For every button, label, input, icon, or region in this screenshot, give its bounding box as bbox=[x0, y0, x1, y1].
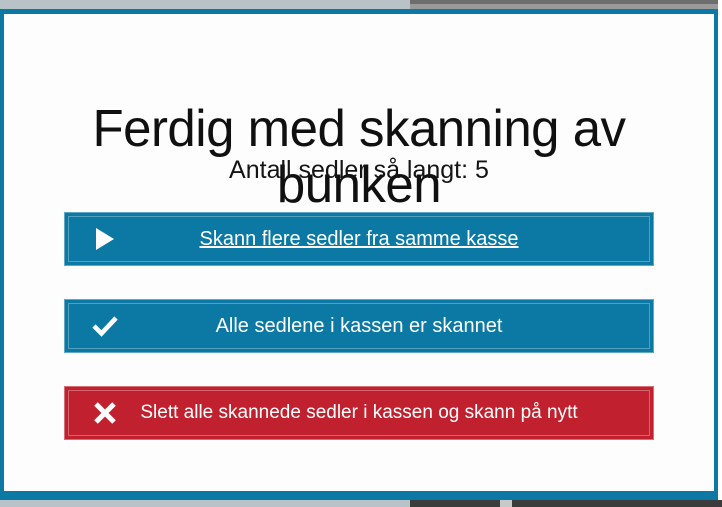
scan-more-button-label: Skann flere sedler fra samme kasse bbox=[65, 213, 653, 265]
scan-complete-dialog: Ferdig med skanning av bunken Antall sed… bbox=[0, 9, 718, 495]
taskbar-segment[interactable] bbox=[500, 500, 512, 507]
all-scanned-button-label: Alle sedlene i kassen er skannet bbox=[65, 300, 653, 352]
delete-rescan-button[interactable]: Slett alle skannede sedler i kassen og s… bbox=[64, 386, 654, 440]
checkmark-icon bbox=[87, 300, 123, 352]
taskbar-segment[interactable] bbox=[520, 500, 722, 507]
cross-x-icon bbox=[87, 387, 123, 439]
delete-rescan-button-label: Slett alle skannede sedler i kassen og s… bbox=[65, 387, 653, 439]
taskbar-segment[interactable] bbox=[512, 500, 520, 507]
dialog-content: Ferdig med skanning av bunken Antall sed… bbox=[4, 14, 714, 491]
scan-more-button[interactable]: Skann flere sedler fra samme kasse bbox=[64, 212, 654, 266]
screen-root: Ferdig med skanning av bunken Antall sed… bbox=[0, 0, 722, 507]
button-inner-border bbox=[68, 216, 650, 262]
button-inner-border bbox=[68, 390, 650, 436]
taskbar-segment[interactable] bbox=[410, 500, 500, 507]
right-gutter bbox=[718, 0, 722, 507]
play-triangle-icon bbox=[87, 213, 123, 265]
window-chrome-top-left bbox=[0, 0, 410, 9]
scanned-count-label: Antall sedler så langt: 5 bbox=[4, 155, 714, 185]
button-inner-border bbox=[68, 303, 650, 349]
all-scanned-button[interactable]: Alle sedlene i kassen er skannet bbox=[64, 299, 654, 353]
